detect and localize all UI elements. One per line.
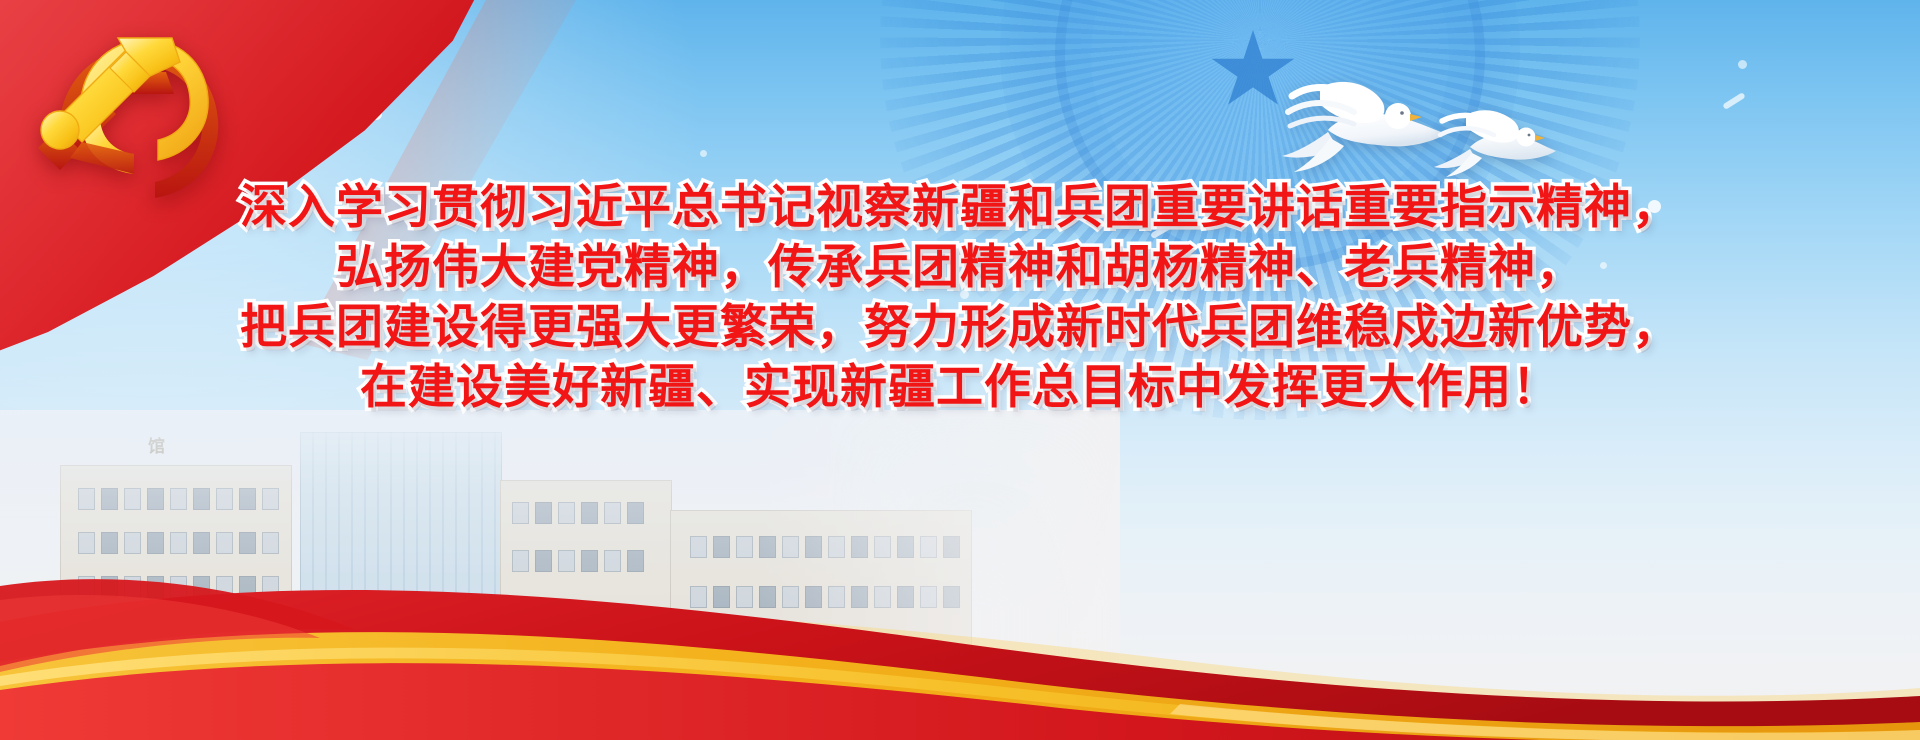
building-window: [828, 536, 845, 558]
building-window: [78, 576, 95, 598]
building-window: [558, 502, 575, 524]
building-window: [216, 532, 233, 554]
headline-line-1: 深入学习贯彻习近平总书记视察新疆和兵团重要讲话重要指示精神，: [0, 178, 1920, 238]
building-window: [690, 536, 707, 558]
building-window: [713, 536, 730, 558]
building-window: [581, 550, 598, 572]
building-window: [920, 586, 937, 608]
building-window: [147, 488, 164, 510]
headline-line-2: 弘扬伟大建党精神，传承兵团精神和胡杨精神、老兵精神，: [0, 238, 1920, 298]
building-window: [193, 532, 210, 554]
building-window: [604, 550, 621, 572]
building-window: [170, 532, 187, 554]
building-window: [874, 536, 891, 558]
building-window: [805, 536, 822, 558]
building-window: [262, 576, 279, 598]
dove-small-icon: [1430, 95, 1560, 181]
building-window: [170, 488, 187, 510]
building-window: [512, 502, 529, 524]
building-red-banner: 凝心聚力谋发展 团结奋进新征程: [451, 640, 597, 655]
building-window: [943, 586, 960, 608]
building-motto-line-2: 为兴疆固边服务: [425, 700, 635, 722]
building-window: [782, 536, 799, 558]
building-window-row: [78, 532, 279, 554]
building-window: [78, 620, 95, 642]
building-window: [512, 550, 529, 572]
building-window-row: [78, 488, 279, 510]
government-building-photo: 馆: [0, 410, 1120, 740]
building-window: [604, 502, 621, 524]
building-window: [216, 488, 233, 510]
building-window: [805, 586, 822, 608]
building-window: [193, 488, 210, 510]
building-window: [535, 550, 552, 572]
building-window: [170, 620, 187, 642]
building-window: [851, 536, 868, 558]
building-window: [262, 532, 279, 554]
building-window: [897, 586, 914, 608]
building-window: [759, 536, 776, 558]
building-window: [216, 576, 233, 598]
building-window: [101, 488, 118, 510]
snow-dot: [700, 150, 707, 157]
building-window: [897, 536, 914, 558]
building-window: [558, 550, 575, 572]
building-window: [193, 576, 210, 598]
building-window: [124, 576, 141, 598]
building-window: [239, 488, 256, 510]
building-window: [78, 532, 95, 554]
building-window: [101, 576, 118, 598]
building-window: [147, 576, 164, 598]
building-window: [262, 488, 279, 510]
building-plaque: 馆: [148, 432, 165, 457]
building-window: [124, 488, 141, 510]
building-window: [627, 502, 644, 524]
building-window: [920, 536, 937, 558]
building-window: [535, 502, 552, 524]
building-window-row: [690, 586, 960, 608]
building-window: [627, 550, 644, 572]
building-window: [690, 586, 707, 608]
headline-block: 深入学习贯彻习近平总书记视察新疆和兵团重要讲话重要指示精神， 弘扬伟大建党精神，…: [0, 178, 1920, 418]
building-motto-line-1: 用胡杨精神育人: [425, 672, 635, 694]
building-window-row: [690, 536, 960, 558]
building-window: [78, 488, 95, 510]
building-window: [874, 586, 891, 608]
building-window: [193, 620, 210, 642]
building-window: [147, 620, 164, 642]
snow-dot: [1738, 60, 1747, 69]
building-window: [101, 620, 118, 642]
headline-line-3: 把兵团建设得更强大更繁荣，努力形成新时代兵团维稳戍边新优势，: [0, 298, 1920, 358]
building-window: [736, 536, 753, 558]
building-window: [262, 620, 279, 642]
building-window-row: [512, 550, 644, 572]
building-window-row: [78, 576, 279, 598]
building-window: [101, 532, 118, 554]
building-window: [943, 536, 960, 558]
building-window: [147, 532, 164, 554]
building-window: [759, 586, 776, 608]
building-window-row: [78, 620, 279, 642]
building-window: [124, 532, 141, 554]
building-window: [851, 586, 868, 608]
building-window: [239, 576, 256, 598]
building-window: [170, 576, 187, 598]
headline-line-4: 在建设美好新疆、实现新疆工作总目标中发挥更大作用！: [0, 358, 1920, 418]
building-window: [713, 586, 730, 608]
building-window: [828, 586, 845, 608]
building-window: [581, 502, 598, 524]
building-window: [124, 620, 141, 642]
building-window: [782, 586, 799, 608]
building-window: [239, 532, 256, 554]
building-window: [216, 620, 233, 642]
building-window: [239, 620, 256, 642]
building-window: [736, 586, 753, 608]
building-window-row: [512, 502, 644, 524]
propaganda-banner: 馆: [0, 0, 1920, 740]
